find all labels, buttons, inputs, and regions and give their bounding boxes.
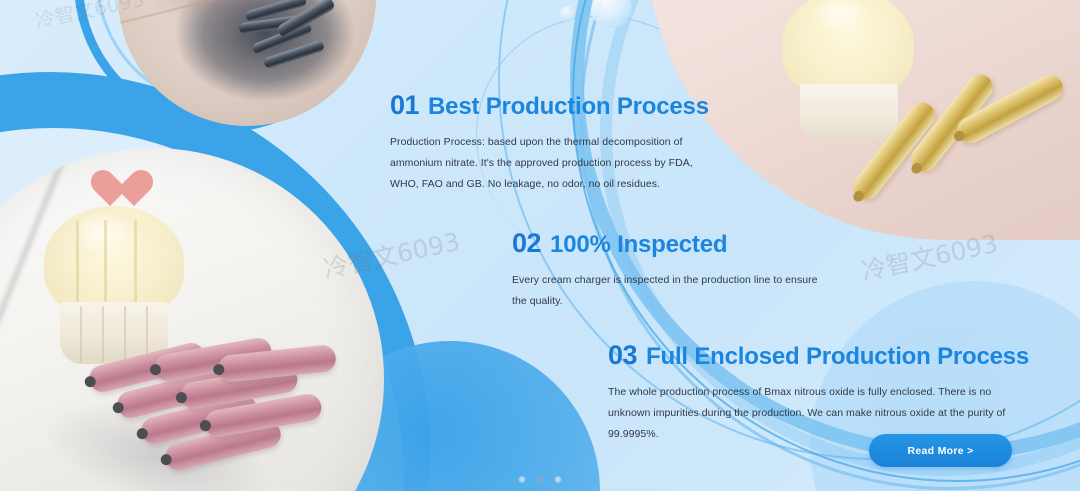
feature-number-1: 01 xyxy=(390,92,419,119)
carousel-dot[interactable] xyxy=(537,476,544,483)
feature-title-3: Full Enclosed Production Process xyxy=(646,345,1029,369)
carousel-dot[interactable] xyxy=(519,476,526,483)
feature-heading-1: 01 Best Production Process xyxy=(390,92,720,119)
feature-title-2: 100% Inspected xyxy=(550,233,727,257)
feature-number-2: 02 xyxy=(512,230,541,257)
feature-body-1: Production Process: based upon the therm… xyxy=(390,132,720,195)
feature-block-3: 03 Full Enclosed Production Process The … xyxy=(608,342,1008,445)
promo-banner: 冷智文6093 冷智文6093 冷智文6093 01 Best Producti… xyxy=(0,0,1080,491)
feature-body-2: Every cream charger is inspected in the … xyxy=(512,270,832,312)
read-more-button[interactable]: Read More > xyxy=(869,434,1012,467)
feature-block-1: 01 Best Production Process Production Pr… xyxy=(390,92,720,195)
feature-block-2: 02 100% Inspected Every cream charger is… xyxy=(512,230,832,312)
feature-title-1: Best Production Process xyxy=(428,95,709,119)
feature-list: 01 Best Production Process Production Pr… xyxy=(0,0,1080,491)
carousel-dot[interactable] xyxy=(555,476,562,483)
carousel-indicators[interactable] xyxy=(519,476,562,483)
feature-heading-2: 02 100% Inspected xyxy=(512,230,832,257)
feature-number-3: 03 xyxy=(608,342,637,369)
feature-heading-3: 03 Full Enclosed Production Process xyxy=(608,342,1008,369)
